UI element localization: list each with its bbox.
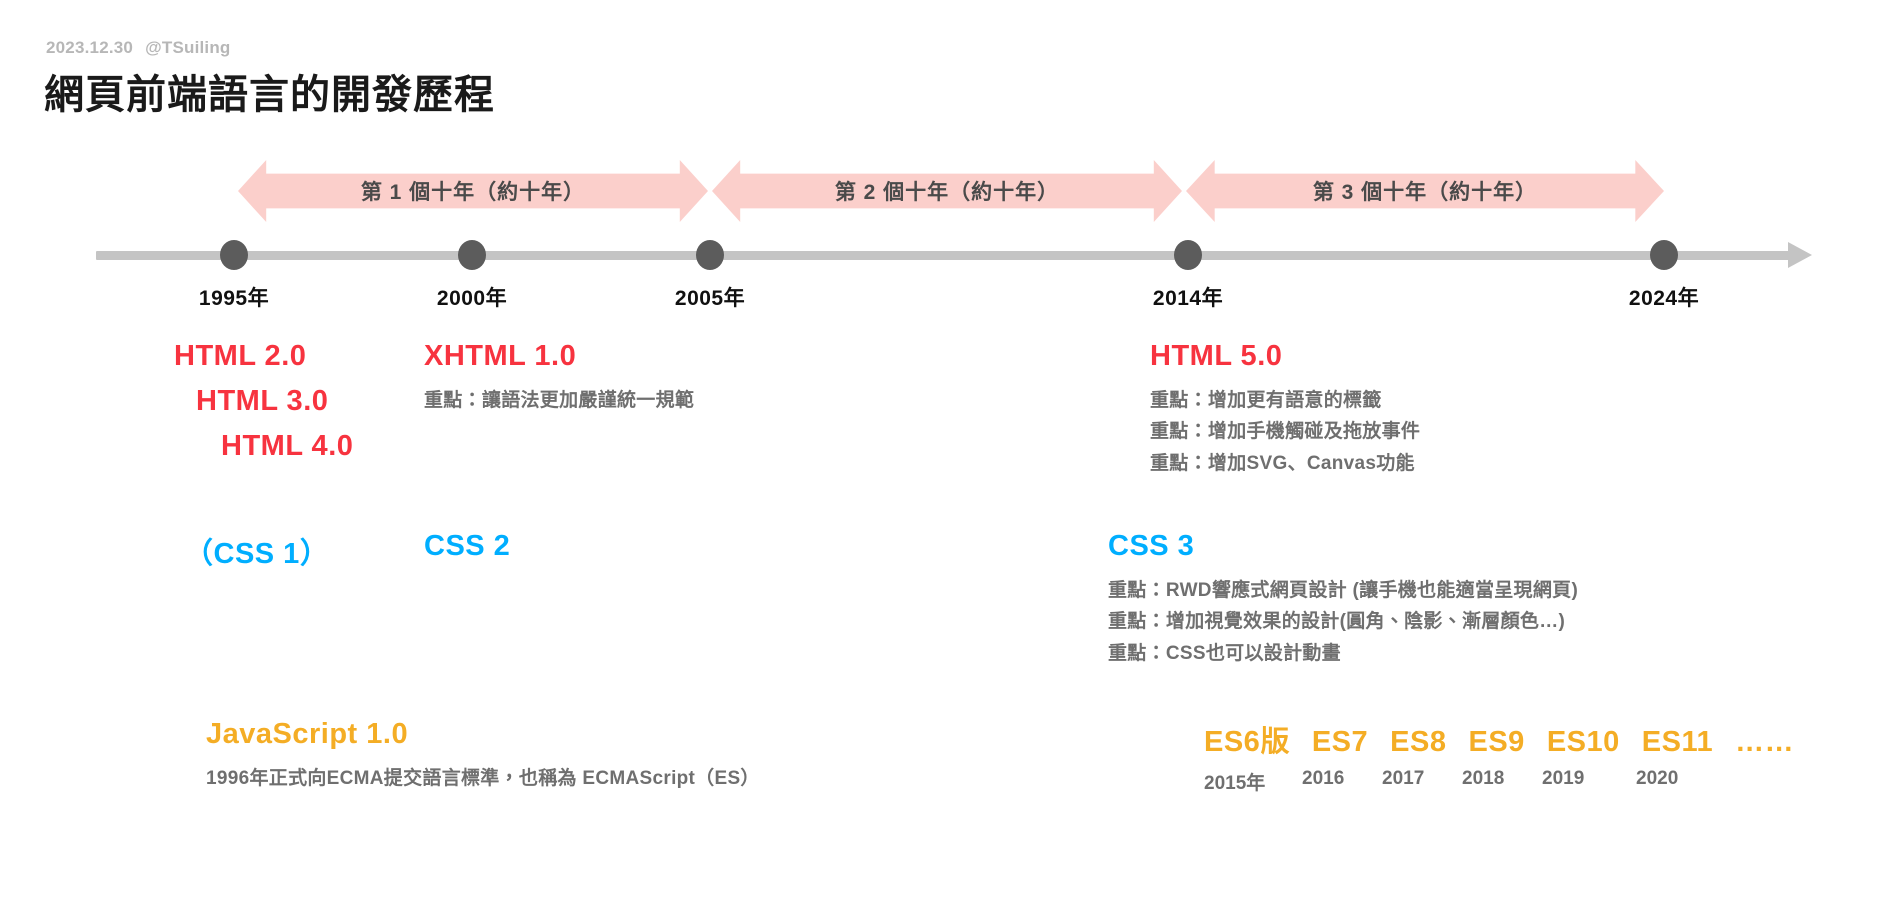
- es-year-9: 2018: [1462, 768, 1542, 795]
- es-year-8: 2017: [1382, 768, 1462, 795]
- timeline-dot-1995: [220, 240, 248, 270]
- css3-detail-2: 重點：增加視覺效果的設計(圓角、陰影、漸層顏色…): [1108, 606, 1578, 637]
- decade-label-1: 第 1 個十年（約十年）: [361, 176, 585, 206]
- timeline-dot-2014: [1174, 240, 1202, 270]
- es-year-6: 2015年: [1204, 768, 1302, 795]
- css2-group: CSS 2: [424, 530, 510, 563]
- es-version-6: ES6版: [1204, 718, 1290, 760]
- timeline-dot-2024: [1650, 240, 1678, 270]
- decade-arrow-3: 第 3 個十年（約十年）: [1186, 160, 1664, 222]
- xhtml-title: XHTML 1.0: [424, 340, 694, 373]
- page-title: 網頁前端語言的開發歷程: [44, 62, 495, 120]
- es-version-9: ES9: [1468, 726, 1524, 759]
- css1-group: （CSS 1）: [184, 530, 329, 572]
- decade-label-3: 第 3 個十年（約十年）: [1313, 176, 1537, 206]
- byline-date: 2023.12.30: [46, 38, 133, 57]
- decade-arrow-1: 第 1 個十年（約十年）: [238, 160, 708, 222]
- timeline-dot-2005: [696, 240, 724, 270]
- decade-label-2: 第 2 個十年（約十年）: [835, 176, 1059, 206]
- es-version-7: ES7: [1312, 726, 1368, 759]
- es-year-10: 2019: [1542, 768, 1636, 795]
- es-version-11: ES11: [1642, 726, 1713, 759]
- html-version-2: HTML 2.0: [174, 340, 353, 373]
- decade-band: 第 1 個十年（約十年） 第 2 個十年（約十年） 第 3 個十年（約十年）: [0, 160, 1900, 222]
- es-versions-group: ES6版 ES7 ES8 ES9 ES10 ES11 …… 2015年 2016…: [1204, 718, 1794, 795]
- timeline-year-label-2: 2000年: [437, 282, 507, 312]
- timeline-dot-2000: [458, 240, 486, 270]
- html5-group: HTML 5.0 重點：增加更有語意的標籤 重點：增加手機觸碰及拖放事件 重點：…: [1150, 340, 1420, 479]
- byline: 2023.12.30@TSuiling: [46, 38, 231, 58]
- es-year-7: 2016: [1302, 768, 1382, 795]
- html5-title: HTML 5.0: [1150, 340, 1420, 373]
- javascript-title: JavaScript 1.0: [206, 718, 760, 751]
- timeline-year-label-5: 2024年: [1629, 282, 1699, 312]
- html5-detail-2: 重點：增加手機觸碰及拖放事件: [1150, 416, 1420, 447]
- css3-title: CSS 3: [1108, 530, 1578, 563]
- timeline-year-label-4: 2014年: [1153, 282, 1223, 312]
- timeline-axis: [96, 251, 1796, 260]
- html-version-4: HTML 4.0: [174, 430, 353, 463]
- css2-title: CSS 2: [424, 530, 510, 563]
- es-version-10: ES10: [1547, 726, 1620, 759]
- es-year-11: 2020: [1636, 768, 1716, 795]
- xhtml-detail-1: 重點：讓語法更加嚴謹統一規範: [424, 385, 694, 416]
- timeline-year-label-1: 1995年: [199, 282, 269, 312]
- es-version-8: ES8: [1390, 726, 1446, 759]
- html-versions-group: HTML 2.0 HTML 3.0 HTML 4.0: [174, 340, 353, 475]
- infographic-canvas: 2023.12.30@TSuiling 網頁前端語言的開發歷程 第 1 個十年（…: [0, 0, 1900, 900]
- es-years-row: 2015年 2016 2017 2018 2019 2020: [1204, 768, 1794, 795]
- es-version-more: ……: [1735, 726, 1794, 759]
- css1-title: （CSS 1）: [184, 530, 329, 572]
- javascript-group: JavaScript 1.0 1996年正式向ECMA提交語言標準，也稱為 EC…: [206, 718, 760, 794]
- javascript-detail-1: 1996年正式向ECMA提交語言標準，也稱為 ECMAScript（ES）: [206, 763, 760, 794]
- css3-detail-1: 重點：RWD響應式網頁設計 (讓手機也能適當呈現網頁): [1108, 575, 1578, 606]
- css3-detail-3: 重點：CSS也可以設計動畫: [1108, 638, 1578, 669]
- timeline-arrow-head-icon: [1788, 242, 1812, 268]
- byline-handle: @TSuiling: [145, 38, 230, 57]
- css3-group: CSS 3 重點：RWD響應式網頁設計 (讓手機也能適當呈現網頁) 重點：增加視…: [1108, 530, 1578, 669]
- html5-detail-1: 重點：增加更有語意的標籤: [1150, 385, 1420, 416]
- html5-detail-3: 重點：增加SVG、Canvas功能: [1150, 448, 1420, 479]
- timeline-year-label-3: 2005年: [675, 282, 745, 312]
- es-versions-row: ES6版 ES7 ES8 ES9 ES10 ES11 ……: [1204, 718, 1794, 760]
- html-version-3: HTML 3.0: [174, 385, 353, 418]
- xhtml-group: XHTML 1.0 重點：讓語法更加嚴謹統一規範: [424, 340, 694, 416]
- decade-arrow-2: 第 2 個十年（約十年）: [712, 160, 1182, 222]
